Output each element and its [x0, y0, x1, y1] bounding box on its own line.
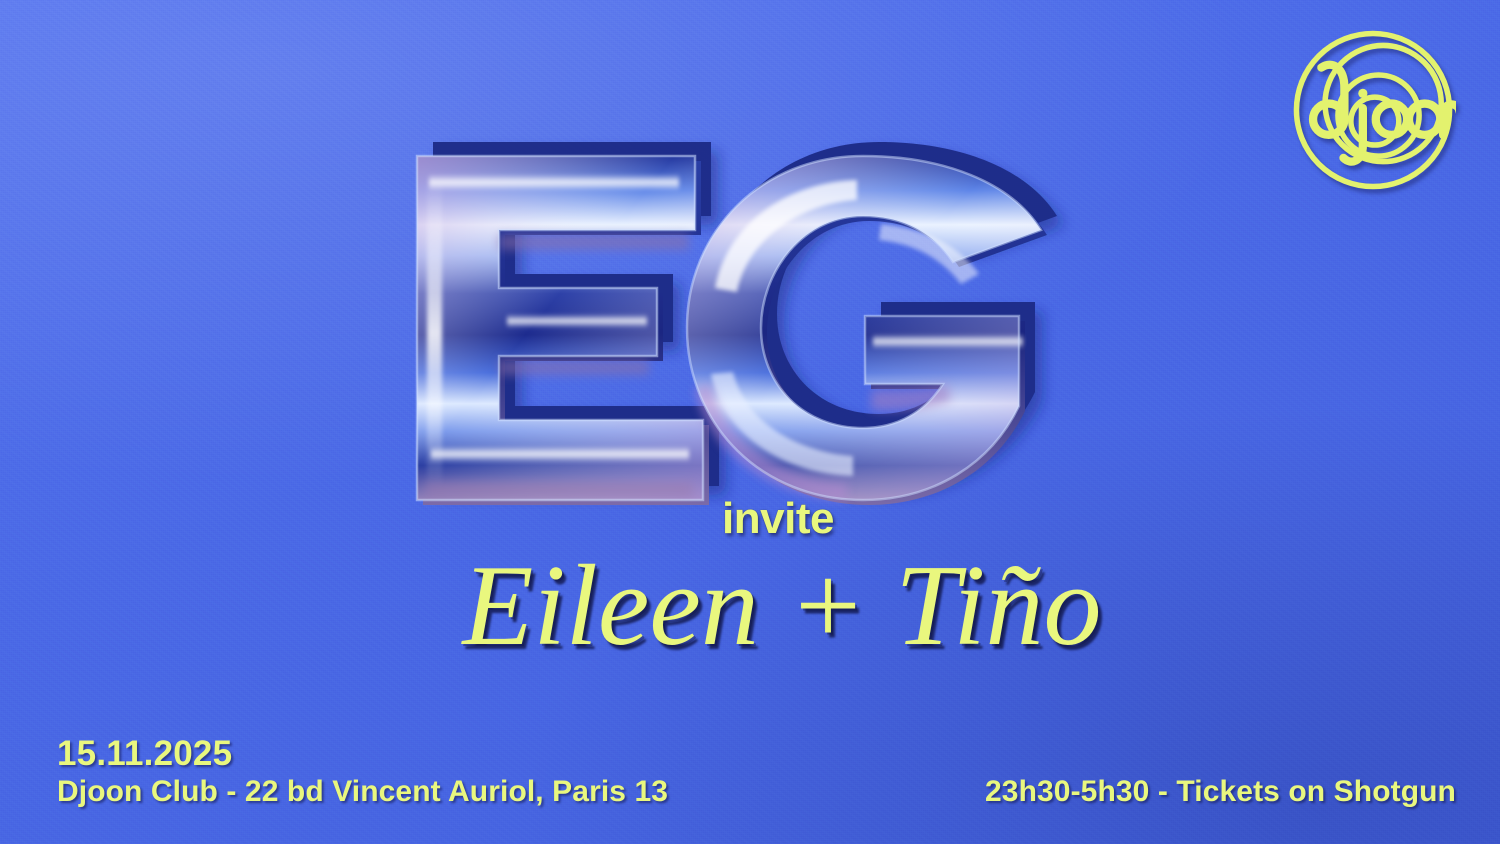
flyer-footer: 15.11.2025 Djoon Club - 22 bd Vincent Au… [0, 720, 1500, 810]
letter-g [687, 156, 1047, 505]
artists-line: Eileen + Tiño [0, 548, 1500, 664]
eg-chrome-lettering [395, 138, 1075, 538]
djoon-logo-icon [1290, 27, 1456, 193]
footer-right: 23h30-5h30 - Tickets on Shotgun [985, 774, 1456, 810]
djoon-logo[interactable] [1290, 27, 1456, 193]
event-date: 15.11.2025 [57, 733, 668, 774]
event-flyer: invite Eileen + Tiño 15.11.2025 Djoon Cl… [0, 0, 1500, 844]
eg-headline [395, 138, 1075, 538]
footer-left: 15.11.2025 Djoon Club - 22 bd Vincent Au… [57, 733, 668, 810]
venue-address: Djoon Club - 22 bd Vincent Auriol, Paris… [57, 774, 668, 810]
djoon-j-dot [1358, 89, 1367, 98]
invite-label: invite [0, 494, 1500, 544]
time-and-tickets[interactable]: 23h30-5h30 - Tickets on Shotgun [985, 774, 1456, 810]
